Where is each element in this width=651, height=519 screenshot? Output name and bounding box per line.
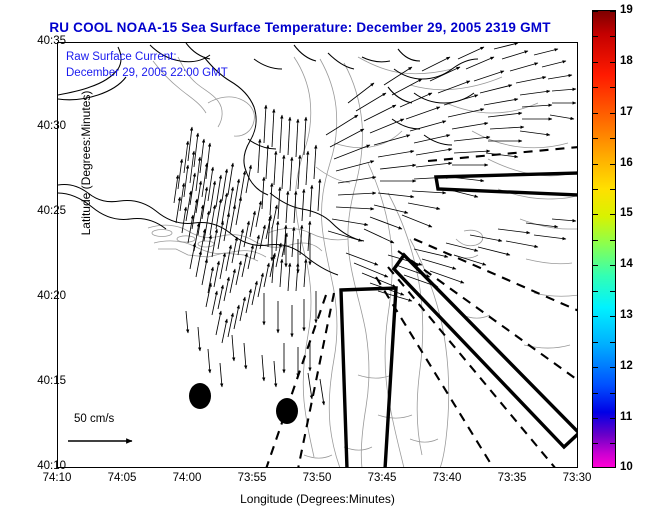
- colorbar-tick-mark: [610, 214, 616, 215]
- bathymetry-contours: [148, 57, 577, 467]
- colorbar-tick-mark: [610, 443, 616, 444]
- colorbar-tick: 12: [620, 360, 633, 372]
- colorbar-tick: 18: [620, 55, 633, 67]
- x-axis-label: Longitude (Degrees:Minutes): [57, 492, 578, 506]
- y-tick: 40:35: [6, 35, 66, 47]
- x-tick: 74:00: [157, 472, 217, 484]
- colorbar-tick-mark: [592, 265, 598, 266]
- y-tick: 40:10: [6, 460, 66, 472]
- colorbar-tick: 19: [620, 4, 633, 16]
- colorbar-tick-mark: [592, 342, 598, 343]
- colorbar: [592, 10, 616, 468]
- colorbar-tick-mark: [610, 11, 616, 12]
- station-marker: [189, 383, 211, 409]
- colorbar-tick-mark: [592, 316, 598, 317]
- x-tick: 73:55: [222, 472, 282, 484]
- radar-coverage-sectors: [341, 173, 577, 467]
- x-tick: 73:40: [417, 472, 477, 484]
- x-tick: 73:30: [547, 472, 607, 484]
- colorbar-tick-mark: [610, 113, 616, 114]
- x-tick: 73:35: [482, 472, 542, 484]
- colorbar-tick-mark: [592, 62, 598, 63]
- colorbar-tick-mark: [610, 418, 616, 419]
- map-canvas: Raw Surface Current: December 29, 2005 2…: [58, 43, 577, 467]
- colorbar-tick-mark: [592, 240, 598, 241]
- colorbar-tick: 11: [620, 411, 632, 423]
- colorbar-tick: 17: [620, 106, 633, 118]
- colorbar-tick: 15: [620, 207, 633, 219]
- colorbar-tick: 13: [620, 309, 633, 321]
- y-tick: 40:30: [6, 120, 66, 132]
- colorbar-tick-mark: [610, 316, 616, 317]
- colorbar-tick: 16: [620, 157, 633, 169]
- colorbar-tick-mark: [610, 62, 616, 63]
- x-tick: 74:05: [92, 472, 152, 484]
- station-marker: [276, 398, 298, 424]
- map-graphics: [58, 43, 577, 467]
- colorbar-tick-mark: [592, 11, 598, 12]
- colorbar-tick-mark: [592, 138, 598, 139]
- colorbar-tick-mark: [610, 87, 616, 88]
- colorbar-tick-mark: [592, 418, 598, 419]
- colorbar-tick-mark: [610, 164, 616, 165]
- radar-sector-boundaries: [266, 147, 577, 467]
- colorbar-tick-mark: [610, 342, 616, 343]
- map-plot-area: Raw Surface Current: December 29, 2005 2…: [57, 42, 578, 468]
- colorbar-tick-mark: [610, 393, 616, 394]
- colorbar-tick-mark: [610, 291, 616, 292]
- x-tick: 73:45: [352, 472, 412, 484]
- colorbar-tick-mark: [610, 138, 616, 139]
- x-tick: 73:50: [287, 472, 347, 484]
- colorbar-tick-mark: [592, 214, 598, 215]
- colorbar-tick-mark: [592, 291, 598, 292]
- y-tick: 40:25: [6, 205, 66, 217]
- colorbar-tick-mark: [592, 164, 598, 165]
- colorbar-tick-mark: [592, 113, 598, 114]
- colorbar-tick-mark: [610, 367, 616, 368]
- y-tick: 40:15: [6, 375, 66, 387]
- colorbar-tick-mark: [592, 189, 598, 190]
- page-title: RU COOL NOAA-15 Sea Surface Temperature:…: [0, 20, 600, 35]
- colorbar-tick-mark: [592, 443, 598, 444]
- colorbar-tick-mark: [610, 265, 616, 266]
- scale-legend-label: 50 cm/s: [74, 413, 114, 425]
- colorbar-tick-mark: [592, 36, 598, 37]
- colorbar-tick-mark: [610, 189, 616, 190]
- colorbar-tick-mark: [592, 393, 598, 394]
- colorbar-tick: 10: [620, 461, 633, 473]
- colorbar-tick-mark: [592, 87, 598, 88]
- x-tick: 74:10: [27, 472, 87, 484]
- colorbar-tick-mark: [610, 240, 616, 241]
- y-tick: 40:20: [6, 290, 66, 302]
- scale-legend: 50 cm/s: [64, 413, 174, 453]
- y-axis-label: Latitude (Degrees:Minutes): [79, 63, 93, 263]
- colorbar-tick: 14: [620, 258, 633, 270]
- colorbar-tick-mark: [610, 36, 616, 37]
- colorbar-tick-mark: [592, 367, 598, 368]
- station-markers: [189, 383, 298, 424]
